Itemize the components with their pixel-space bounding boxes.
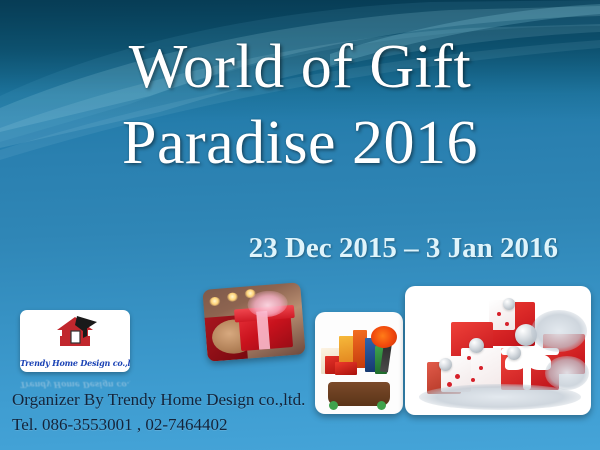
silver-tinsel xyxy=(545,356,589,390)
telephone-line: Tel. 086-3553001 , 02-7464402 xyxy=(12,415,432,435)
event-date-range: 23 Dec 2015 – 3 Jan 2016 xyxy=(0,232,600,265)
heart-pattern-dot xyxy=(471,378,475,382)
logo-script-text: Trendy Home Design co.,ltd. xyxy=(20,358,130,368)
house-with-graduation-cap-icon xyxy=(53,314,97,349)
heart-pattern-dot xyxy=(467,356,471,360)
silver-bauble xyxy=(503,298,515,310)
heart-pattern-dot xyxy=(505,322,509,326)
poster-title-line-2: Paradise 2016 xyxy=(0,112,600,174)
title-block: World of Gift Paradise 2016 xyxy=(0,36,600,174)
silver-bauble xyxy=(507,346,521,360)
heart-pattern-dot xyxy=(455,374,460,379)
poster-canvas: World of Gift Paradise 2016 23 Dec 2015 … xyxy=(0,0,600,450)
basket-green-bauble xyxy=(377,401,386,410)
silver-bauble xyxy=(439,358,452,371)
basket-snack-item xyxy=(335,362,357,375)
gift-box-with-pink-ribbon-photo xyxy=(202,282,305,361)
poster-title-line-1: World of Gift xyxy=(0,36,600,98)
christmas-gift-pile-photo xyxy=(405,286,591,415)
candle-flame-icon xyxy=(227,292,239,302)
snack-gift-basket-photo xyxy=(315,312,403,414)
heart-pattern-dot xyxy=(479,366,483,370)
trendy-home-design-logo: Trendy Home Design co.,ltd. xyxy=(20,310,130,372)
orange-bow-shape xyxy=(371,326,397,348)
candle-flame-icon xyxy=(209,297,221,307)
basket-green-bauble xyxy=(329,401,338,410)
silver-tinsel xyxy=(531,310,587,352)
silver-bauble xyxy=(469,338,484,353)
heart-pattern-dot xyxy=(497,312,501,316)
logo-reflection-text: Trendy Home Design co.,ltd. xyxy=(20,374,130,390)
